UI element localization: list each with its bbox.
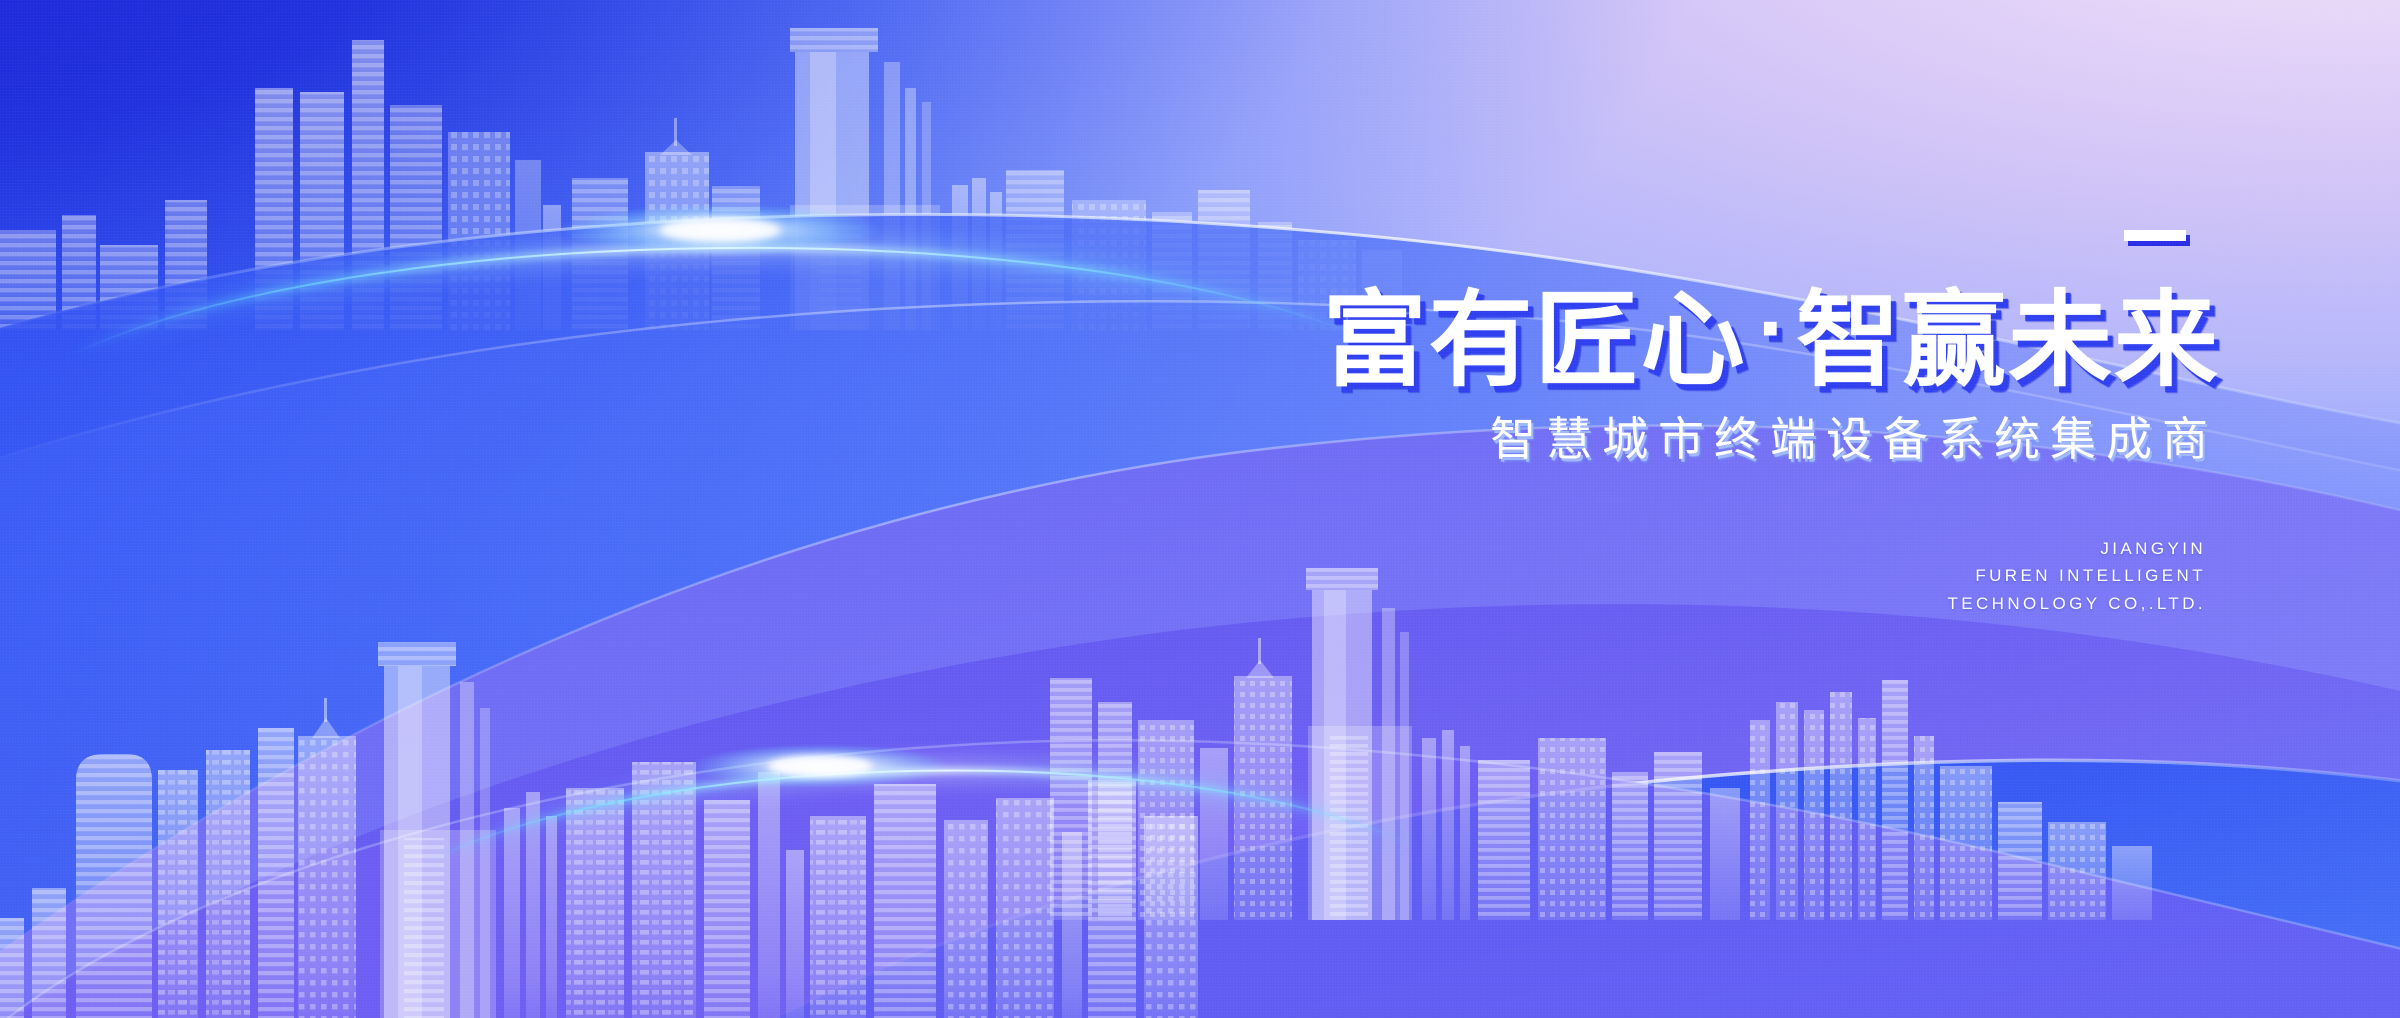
company-name: JIANGYIN FUREN INTELLIGENT TECHNOLOGY CO… — [1040, 535, 2220, 618]
headline-part-left: 富有匠心 — [1323, 279, 1747, 401]
page-title: 富有匠心·智赢未来 — [1040, 288, 2220, 392]
city-skyline-bottomleft — [0, 620, 1230, 1018]
page-subtitle: 智慧城市终端设备系统集成商 — [1040, 414, 2220, 465]
headline-separator: · — [1747, 287, 1796, 371]
accent-dash-icon — [2124, 230, 2186, 241]
headline-part-right: 智赢未来 — [1796, 279, 2220, 401]
company-line-2: FUREN INTELLIGENT — [1040, 562, 2206, 590]
banner-text-block: 富有匠心·智赢未来 智慧城市终端设备系统集成商 JIANGYIN FUREN I… — [1040, 230, 2220, 617]
company-line-1: JIANGYIN — [1040, 535, 2206, 563]
promo-banner: 富有匠心·智赢未来 智慧城市终端设备系统集成商 JIANGYIN FUREN I… — [0, 0, 2400, 1018]
company-line-3: TECHNOLOGY CO,.LTD. — [1040, 590, 2206, 618]
